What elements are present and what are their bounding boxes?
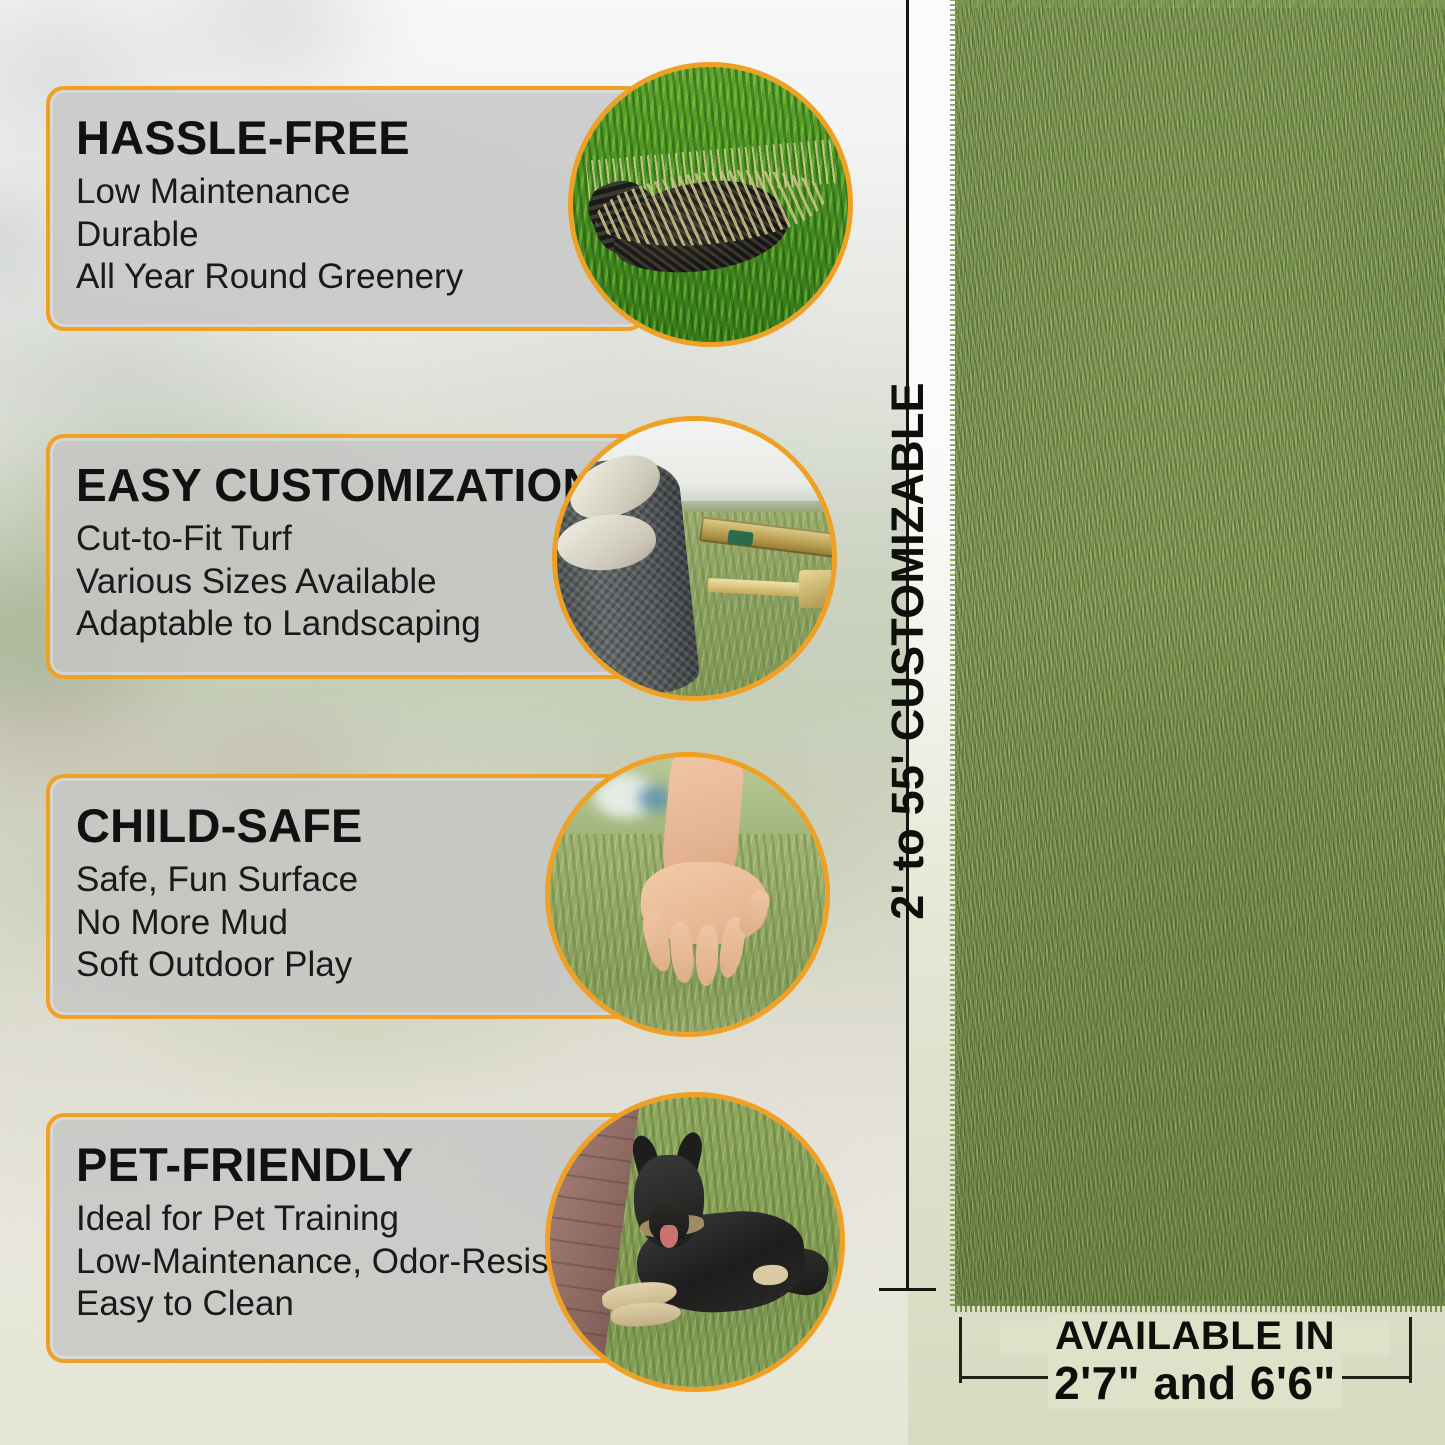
width-label-line-2: 2'7" and 6'6" (1048, 1357, 1342, 1409)
width-dimension-label: AVAILABLE IN 2'7" and 6'6" (1000, 1316, 1390, 1406)
tape-measure-case (799, 570, 837, 609)
feature-bullet: Various Sizes Available (76, 561, 616, 604)
feature-title: HASSLE-FREE (76, 110, 616, 165)
feature-bullet: No More Mud (76, 902, 616, 945)
feature-bullet: Cut-to-Fit Turf (76, 518, 616, 561)
length-dimension-label: 2' to 55' CUSTOMIZABLE (882, 333, 934, 969)
feature-image-gloved-hands-rolling-turf (552, 416, 837, 701)
width-dimension-endcap-left (959, 1317, 962, 1383)
feature-title: CHILD-SAFE (76, 798, 616, 853)
feature-bullet: Soft Outdoor Play (76, 944, 616, 987)
feature-image-child-hand-on-turf (545, 752, 830, 1037)
feature-bullet: Adaptable to Landscaping (76, 603, 616, 646)
feature-bullet-list: Low Maintenance Durable All Year Round G… (76, 171, 616, 299)
length-dimension-label-area: 2' to 55' CUSTOMIZABLE (880, 330, 936, 990)
feature-image-dog-lying-on-turf (545, 1092, 845, 1392)
feature-bullet: All Year Round Greenery (76, 256, 616, 299)
turf-roll-strip (955, 0, 1445, 1306)
feature-image-turf-roll-backing-closeup (568, 62, 853, 347)
feature-title: PET-FRIENDLY (76, 1137, 616, 1192)
feature-bullet: Safe, Fun Surface (76, 859, 616, 902)
feature-bullet: Ideal for Pet Training (76, 1198, 616, 1241)
feature-bullet-list: Safe, Fun Surface No More Mud Soft Outdo… (76, 859, 616, 987)
feature-card-hassle-free[interactable]: HASSLE-FREE Low Maintenance Durable All … (46, 86, 646, 331)
feature-bullet-list: Ideal for Pet Training Low-Maintenance, … (76, 1198, 616, 1326)
feature-title: EASY CUSTOMIZATION (76, 458, 616, 512)
level-vial (727, 530, 753, 547)
feature-bullet: Low Maintenance (76, 171, 616, 214)
width-label-line-1: AVAILABLE IN (1049, 1314, 1341, 1358)
length-dimension-endcap (879, 1288, 936, 1291)
dog-tongue (660, 1225, 677, 1248)
feature-bullet-list: Cut-to-Fit Turf Various Sizes Available … (76, 518, 616, 646)
product-infographic: 2' to 55' CUSTOMIZABLE AVAILABLE IN 2'7"… (0, 0, 1445, 1445)
feature-bullet: Durable (76, 214, 616, 257)
feature-bullet: Low-Maintenance, Odor-Resistant (76, 1241, 616, 1284)
width-dimension-endcap-right (1409, 1317, 1412, 1383)
feature-bullet: Easy to Clean (76, 1283, 616, 1326)
